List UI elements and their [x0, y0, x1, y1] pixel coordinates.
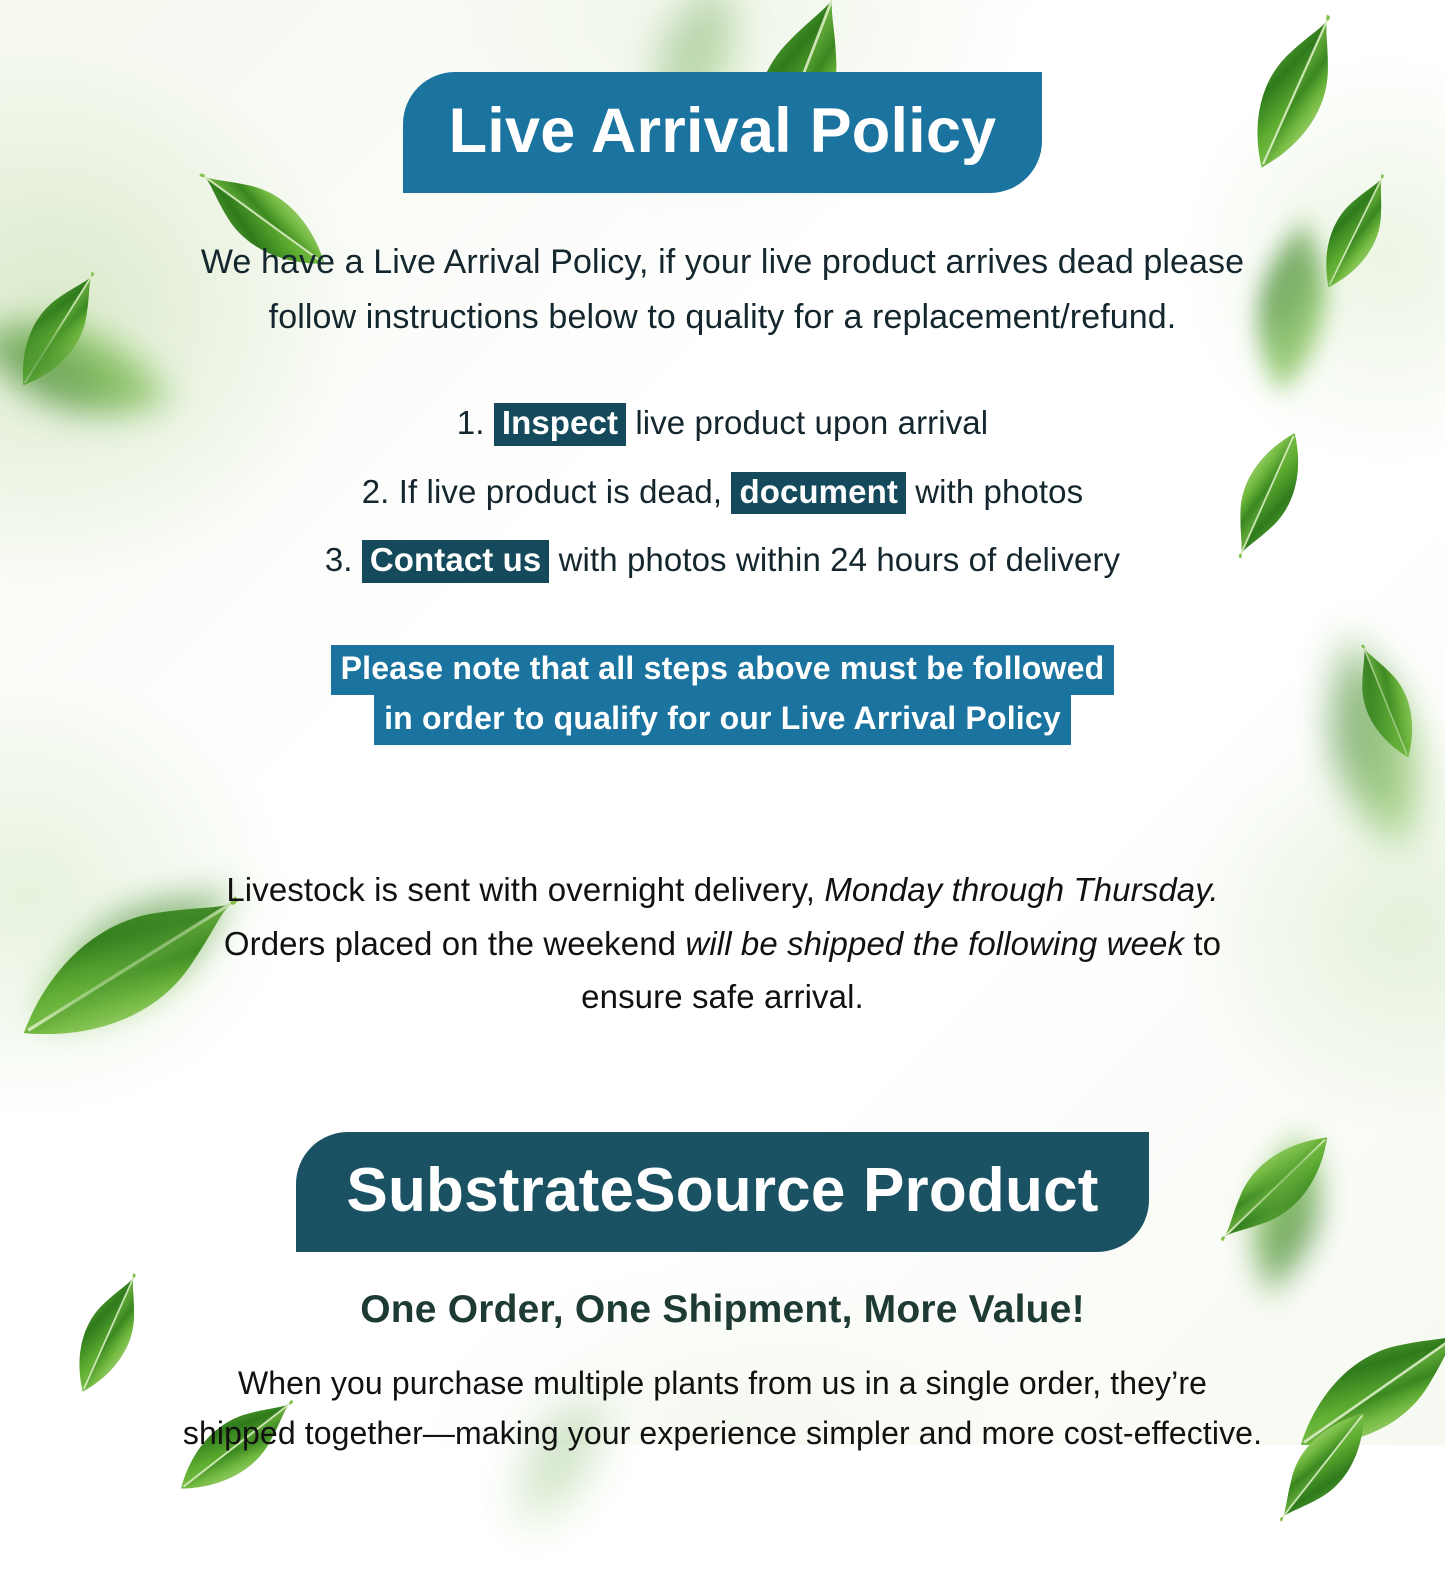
shipping-line2-italic: will be shipped the following week — [685, 925, 1184, 962]
step-text-3: with photos within 24 hours of delivery — [559, 541, 1121, 578]
brand-description-paragraph: When you purchase multiple plants from u… — [178, 1358, 1268, 1459]
brand-subheading: One Order, One Shipment, More Value! — [0, 1288, 1445, 1332]
substratesource-product-section: SubstrateSource Product One Order, One S… — [0, 1132, 1445, 1459]
shipping-schedule-paragraph: Livestock is sent with overnight deliver… — [223, 863, 1223, 1023]
live-arrival-policy-banner: Live Arrival Policy — [403, 72, 1043, 193]
policy-steps-list: 1. Inspect live product upon arrival 2. … — [123, 403, 1323, 583]
live-arrival-policy-banner-wrap: Live Arrival Policy — [0, 0, 1445, 193]
step-number-1: 1. — [457, 404, 485, 441]
step-highlight-document: document — [731, 472, 905, 515]
policy-intro-paragraph: We have a Live Arrival Policy, if your l… — [163, 235, 1283, 345]
shipping-line2-plain: Orders placed on the weekend — [224, 925, 676, 962]
step-text-1: live product upon arrival — [635, 404, 988, 441]
policy-step-1: 1. Inspect live product upon arrival — [123, 403, 1323, 446]
policy-note-block: Please note that all steps above must be… — [0, 645, 1445, 745]
step-text-2-after: with photos — [915, 473, 1083, 510]
policy-step-3: 3. Contact us with photos within 24 hour… — [123, 540, 1323, 583]
step-number-2: 2. — [362, 473, 390, 510]
policy-note-line-1: Please note that all steps above must be… — [331, 645, 1115, 695]
shipping-line1-plain: Livestock is sent with overnight deliver… — [226, 871, 815, 908]
step-highlight-contact-us: Contact us — [362, 540, 550, 583]
shipping-line1-italic: Monday through Thursday. — [824, 871, 1218, 908]
step-highlight-inspect: Inspect — [494, 403, 626, 446]
substratesource-product-banner: SubstrateSource Product — [296, 1132, 1148, 1252]
step-text-2-before: If live product is dead, — [399, 473, 722, 510]
step-number-3: 3. — [325, 541, 353, 578]
policy-note-line-2: in order to qualify for our Live Arrival… — [374, 695, 1071, 745]
policy-step-2: 2. If live product is dead, document wit… — [123, 472, 1323, 515]
